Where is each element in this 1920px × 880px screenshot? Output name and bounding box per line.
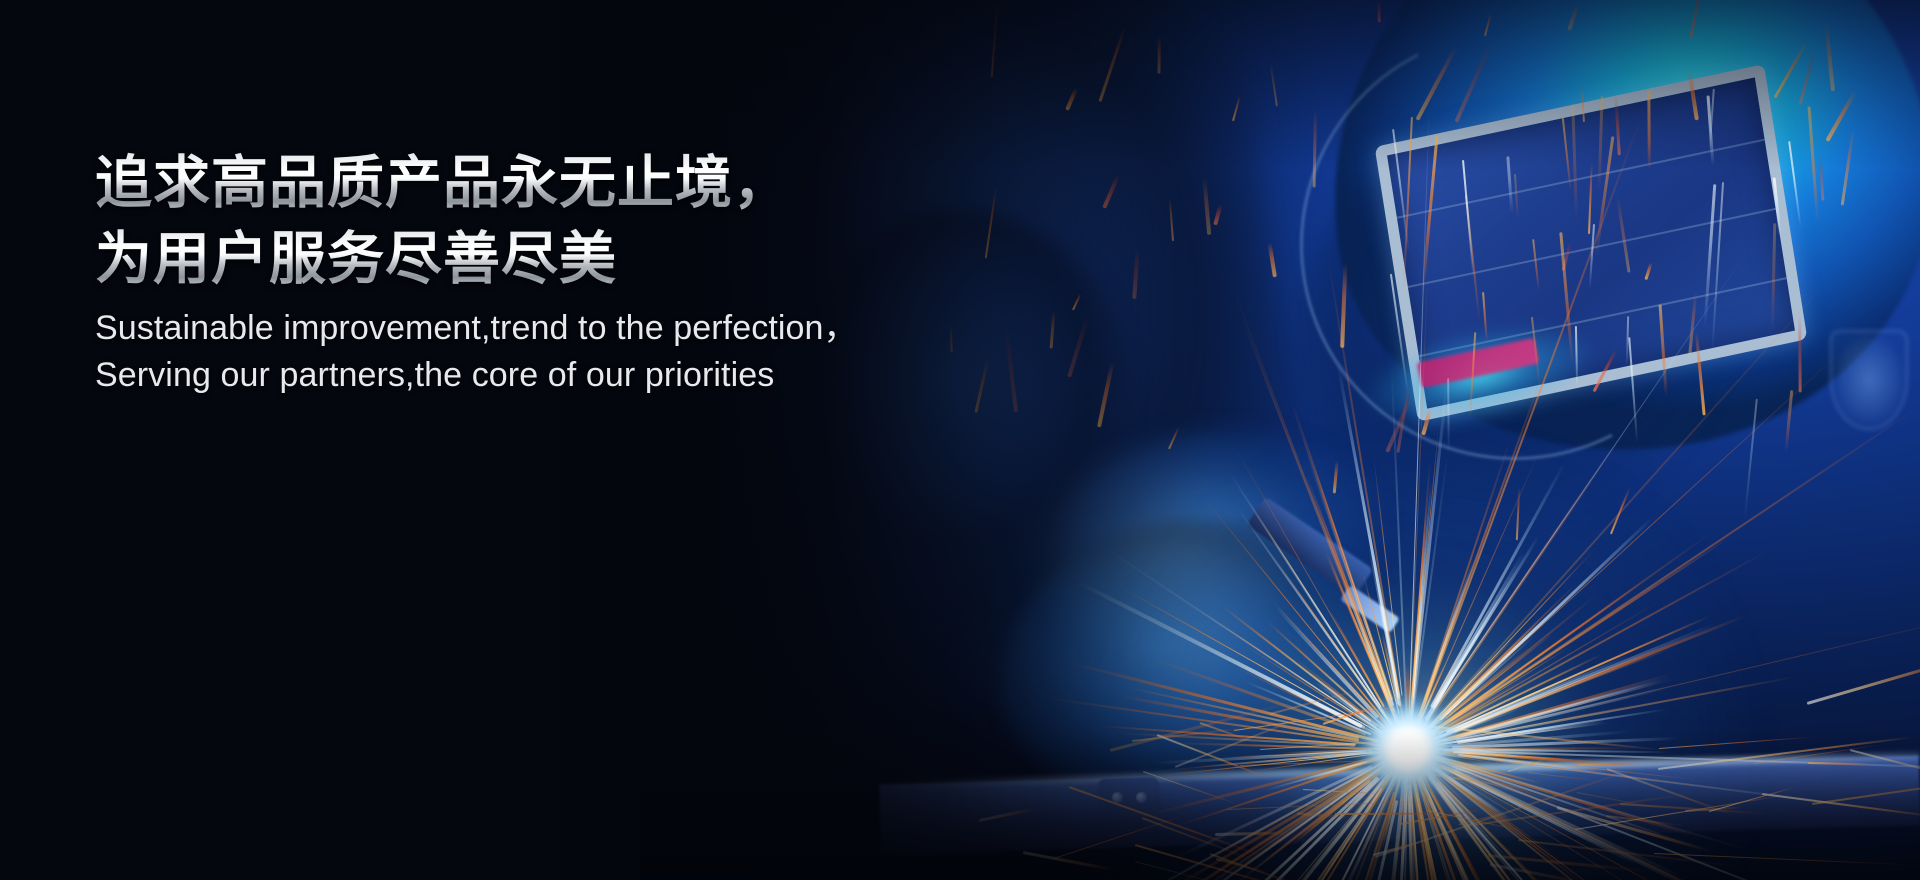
shoulder-badge (1830, 330, 1908, 430)
headline-cn-line-1: 追求高品质产品永无止境， (95, 145, 858, 221)
hero-banner: 追求高品质产品永无止境， 为用户服务尽善尽美 Sustainable impro… (0, 0, 1920, 880)
welding-photo (0, 0, 1920, 880)
spark (1447, 378, 1450, 452)
subheadline-en-line-2: Serving our partners,the core of our pri… (95, 352, 858, 399)
hero-text-block: 追求高品质产品永无止境， 为用户服务尽善尽美 Sustainable impro… (95, 145, 858, 399)
bottom-fade-overlay (640, 730, 1920, 880)
subheadline-group: Sustainable improvement,trend to the per… (95, 305, 858, 399)
subheadline-en-line-1: Sustainable improvement,trend to the per… (95, 305, 858, 352)
headline-cn-line-2: 为用户服务尽善尽美 (95, 221, 858, 297)
